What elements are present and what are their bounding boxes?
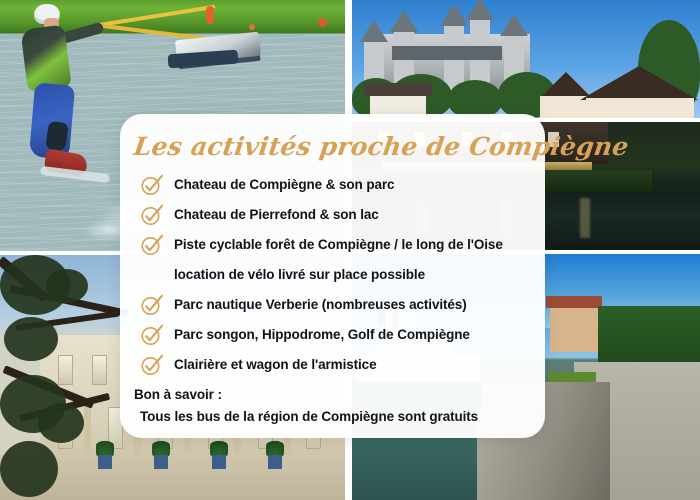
list-item-label: Parc nautique Verberie (nombreuses activ… [174, 294, 467, 315]
palace-column-shape [84, 403, 91, 455]
potted-plant-shape [152, 437, 170, 457]
planter-box-shape [268, 455, 282, 469]
check-circle-icon [140, 354, 164, 376]
planter-box-shape [212, 455, 226, 469]
building-roof-shape [546, 296, 602, 308]
list-item-label: location de vélo livré sur place possibl… [174, 264, 425, 285]
potted-plant-shape [266, 437, 284, 457]
canal-building-shape [550, 306, 598, 352]
activities-card: Les activités proche de Compiègne Chatea… [120, 114, 545, 438]
list-item-label: Clairière et wagon de l'armistice [174, 354, 377, 375]
potted-plant-shape [210, 437, 228, 457]
tow-rope-icon [96, 5, 215, 28]
activities-list: Chateau de Compiègne & son parcChateau d… [134, 174, 531, 376]
check-circle-icon [140, 174, 164, 196]
potted-plant-shape [96, 437, 114, 457]
normandy-house-shape [586, 98, 694, 118]
list-item: Chateau de Compiègne & son parc [134, 174, 531, 196]
foliage-shape [0, 441, 58, 497]
foliage-shape [38, 403, 84, 443]
buoy-marker-shape [318, 18, 327, 27]
list-item-label: Chateau de Compiègne & son parc [174, 174, 394, 195]
palace-window-shape [58, 355, 73, 385]
check-circle-icon [140, 324, 164, 346]
distant-person-shape [206, 6, 214, 24]
buoy-marker-secondary-shape [249, 24, 255, 30]
palace-window-shape [92, 355, 107, 385]
check-circle-icon [140, 294, 164, 316]
foliage-shape [4, 317, 58, 361]
water-reflection-shape [580, 198, 590, 238]
check-circle-icon [140, 234, 164, 256]
planter-box-shape [98, 455, 112, 469]
list-item-label: Piste cyclable forêt de Compiègne / le l… [174, 234, 503, 255]
list-item: Clairière et wagon de l'armistice [134, 354, 531, 376]
note-block: Bon à savoir : Tous les bus de la région… [134, 384, 531, 428]
planter-box-shape [154, 455, 168, 469]
note-heading: Bon à savoir : [134, 384, 531, 406]
note-text: Tous les bus de la région de Compiègne s… [134, 406, 531, 428]
tree-shape [448, 80, 502, 118]
chateau-pierrefonds-photo [352, 0, 700, 118]
activities-poster: Les activités proche de Compiègne Chatea… [0, 0, 700, 500]
list-item-label: Chateau de Pierrefond & son lac [174, 204, 379, 225]
list-item: Parc nautique Verberie (nombreuses activ… [134, 294, 531, 316]
list-item: location de vélo livré sur place possibl… [134, 264, 531, 286]
list-item-label: Parc songon, Hippodrome, Golf de Compièg… [174, 324, 470, 345]
list-item: Chateau de Pierrefond & son lac [134, 204, 531, 226]
check-circle-icon [140, 204, 164, 226]
check-circle-icon [140, 264, 164, 286]
list-item: Parc songon, Hippodrome, Golf de Compièg… [134, 324, 531, 346]
page-title: Les activités proche de Compiègne [132, 130, 534, 164]
list-item: Piste cyclable forêt de Compiègne / le l… [134, 234, 531, 256]
castle-roof-shape [392, 46, 502, 60]
rider-torso-shape [20, 25, 71, 92]
foliage-shape [46, 269, 88, 303]
